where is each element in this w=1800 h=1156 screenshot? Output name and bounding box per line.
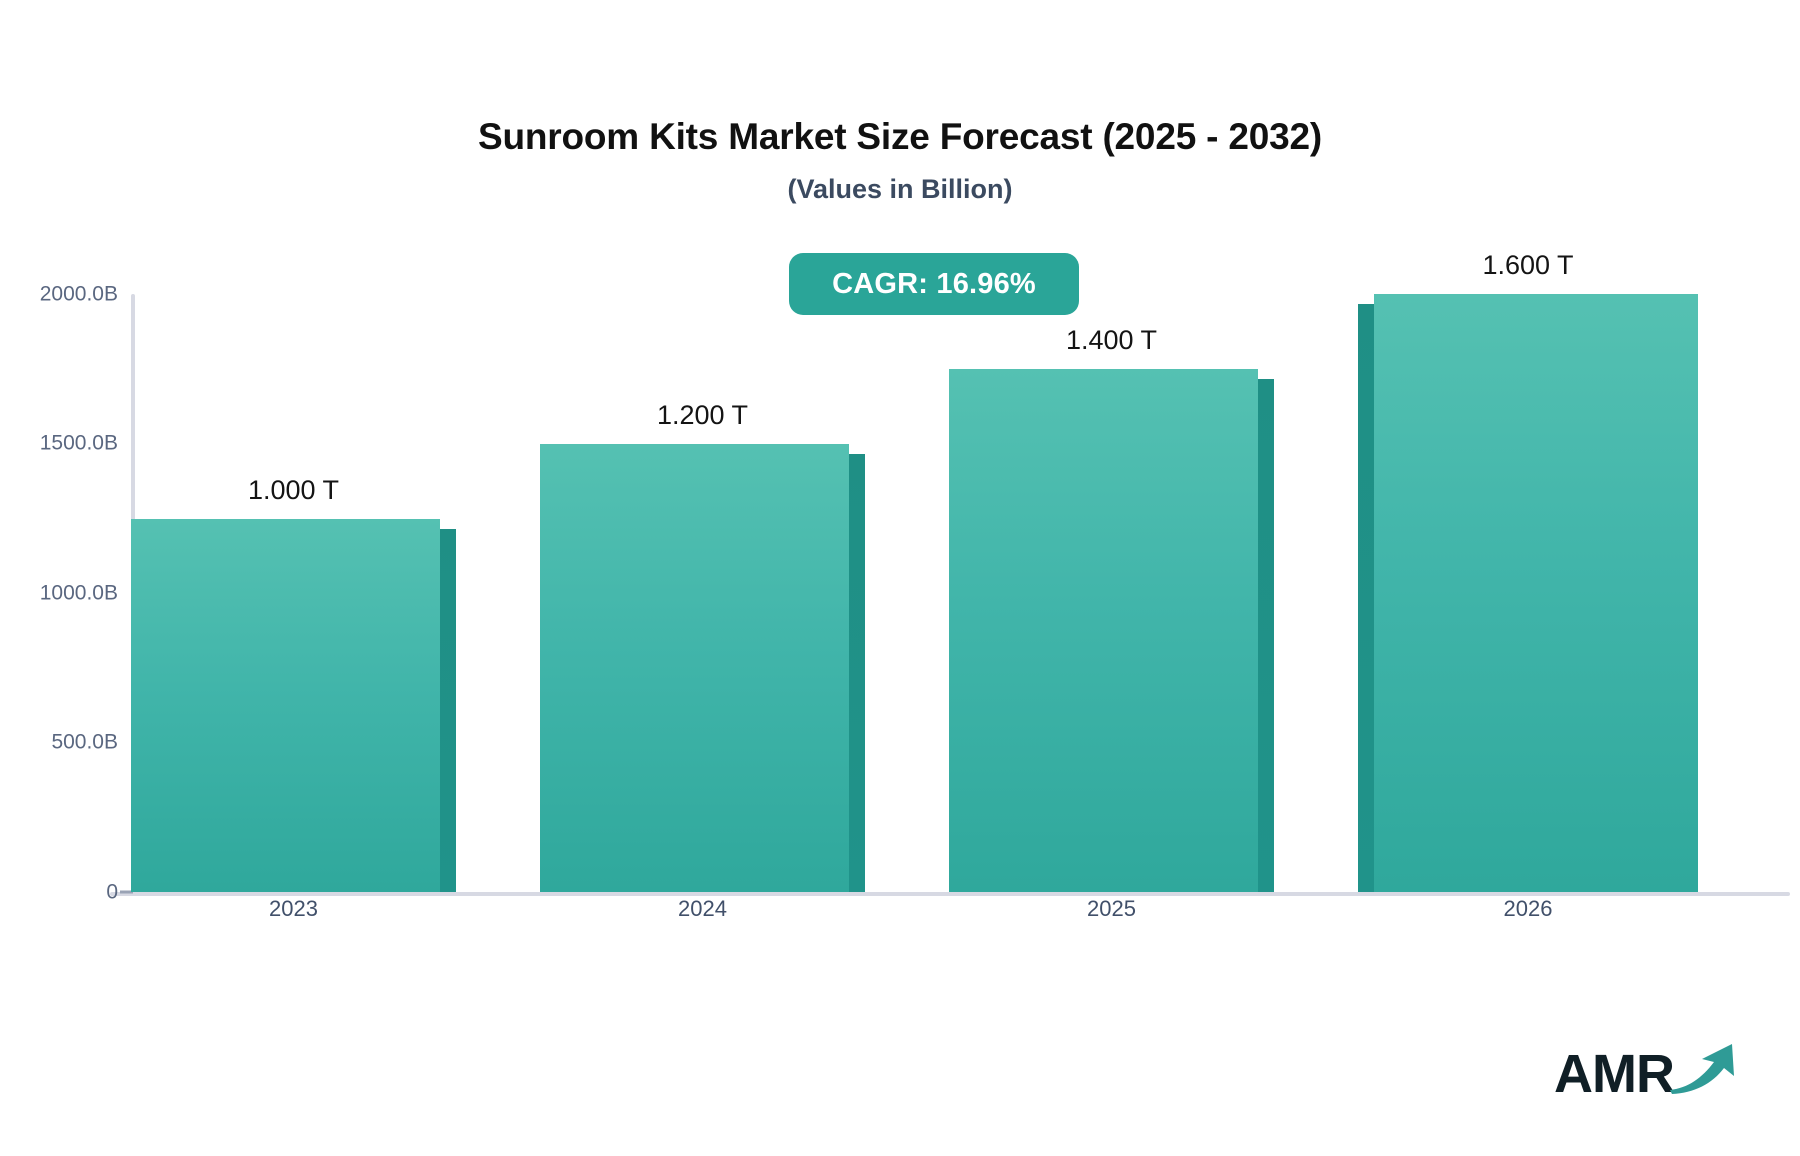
- x-axis-tick-labels: 2023 2024 2025 2026: [131, 898, 1790, 928]
- bar-group-2025[interactable]: 1.400 T: [949, 369, 1274, 892]
- y-axis-tick-labels: 2000.0B 1500.0B 1000.0B 500.0B 0: [0, 280, 118, 890]
- bar-value-label-2024: 1.200 T: [540, 402, 865, 429]
- y-tick-label-500: 500.0B: [8, 732, 118, 753]
- x-tick-label-2025: 2025: [949, 898, 1274, 920]
- x-tick-label-2024: 2024: [540, 898, 865, 920]
- bar-group-2024[interactable]: 1.200 T: [540, 444, 865, 892]
- bar-3d-side-2026: [1358, 304, 1374, 892]
- bar-value-label-2026: 1.600 T: [1358, 252, 1698, 279]
- y-tick-label-1500: 1500.0B: [8, 433, 118, 454]
- bar-group-2023[interactable]: 1.000 T: [131, 519, 456, 892]
- bar-value-label-2023: 1.000 T: [131, 477, 456, 504]
- y-tick-label-0: 0: [8, 882, 118, 903]
- bar-value-label-2025: 1.400 T: [949, 327, 1274, 354]
- x-tick-label-2026: 2026: [1358, 898, 1698, 920]
- chart-subtitle: (Values in Billion): [0, 176, 1800, 203]
- y-tick-label-1000: 1000.0B: [8, 583, 118, 604]
- bar-group-2026[interactable]: 1.600 T: [1358, 294, 1698, 892]
- x-tick-label-2023: 2023: [131, 898, 456, 920]
- bar-face-2024[interactable]: [540, 444, 849, 892]
- bar-face-2026[interactable]: [1374, 294, 1698, 892]
- chart-title: Sunroom Kits Market Size Forecast (2025 …: [0, 118, 1800, 155]
- bars-layer: 1.000 T 1.200 T 1.400 T 1.600 T: [131, 280, 1790, 892]
- plot-area: 2000.0B 1500.0B 1000.0B 500.0B 0 1.000 T…: [0, 280, 1800, 890]
- bar-3d-side-2025: [1258, 379, 1274, 892]
- amr-logo-text: AMR: [1554, 1047, 1674, 1101]
- y-tick-label-2000: 2000.0B: [8, 284, 118, 305]
- bar-3d-side-2024: [849, 454, 865, 892]
- bar-face-2023[interactable]: [131, 519, 440, 892]
- bar-face-2025[interactable]: [949, 369, 1258, 892]
- amr-logo: AMR: [1554, 1039, 1740, 1101]
- bar-3d-side-2023: [440, 529, 456, 892]
- growth-arrow-icon: [1668, 1038, 1740, 1099]
